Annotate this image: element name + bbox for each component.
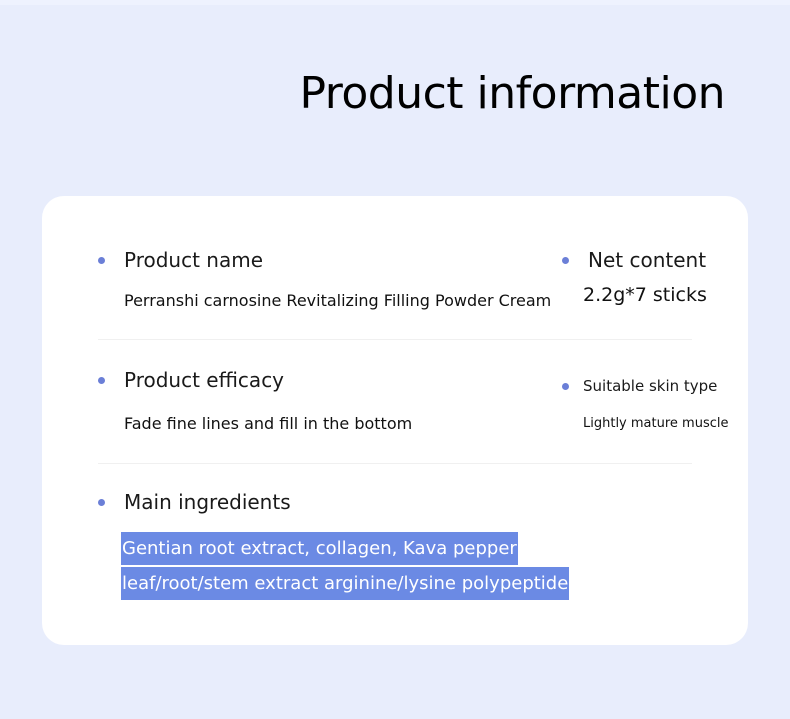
field-row-main-ingredients: Main ingredients (98, 464, 692, 514)
field-row-product-name: Product name Perranshi carnosine Revital… (98, 196, 692, 310)
field-value-main-ingredients-line-1[interactable]: Gentian root extract, collagen, Kava pep… (121, 532, 518, 565)
field-value-product-efficacy: Fade fine lines and fill in the bottom (124, 414, 562, 433)
field-product-name: Product name Perranshi carnosine Revital… (98, 248, 562, 310)
field-product-name-header: Product name (98, 248, 562, 272)
field-value-product-name: Perranshi carnosine Revitalizing Filling… (124, 291, 562, 310)
field-net-content: Net content 2.2g*7 sticks (562, 248, 692, 310)
field-suitable-skin-type-header: Suitable skin type (562, 377, 692, 395)
field-net-content-header: Net content (562, 248, 692, 272)
field-value-main-ingredients-line-2[interactable]: leaf/root/stem extract arginine/lysine p… (121, 567, 569, 600)
field-label-suitable-skin-type: Suitable skin type (583, 377, 717, 395)
bullet-dot-icon (562, 383, 569, 390)
field-value-net-content: 2.2g*7 sticks (583, 284, 692, 306)
field-rows: Product name Perranshi carnosine Revital… (98, 196, 692, 601)
bullet-dot-icon (98, 499, 105, 506)
field-row-product-efficacy: Product efficacy Fade fine lines and fil… (98, 340, 692, 433)
field-label-product-name: Product name (124, 248, 263, 272)
page-title: Product information (0, 70, 725, 118)
selected-text-block[interactable]: Gentian root extract, collagen, Kava pep… (121, 531, 715, 601)
top-edge-strip (0, 0, 790, 5)
field-label-net-content: Net content (588, 248, 706, 272)
product-information-card: Product name Perranshi carnosine Revital… (42, 196, 748, 645)
field-main-ingredients: Main ingredients (98, 490, 562, 514)
field-product-efficacy: Product efficacy Fade fine lines and fil… (98, 368, 562, 433)
field-label-main-ingredients: Main ingredients (124, 490, 291, 514)
bullet-dot-icon (98, 257, 105, 264)
bullet-dot-icon (98, 377, 105, 384)
field-main-ingredients-header: Main ingredients (98, 490, 562, 514)
bullet-dot-icon (562, 257, 569, 264)
field-label-product-efficacy: Product efficacy (124, 368, 284, 392)
field-product-efficacy-header: Product efficacy (98, 368, 562, 392)
field-suitable-skin-type: Suitable skin type Lightly mature muscle (562, 368, 692, 433)
field-value-suitable-skin-type: Lightly mature muscle (583, 416, 692, 431)
